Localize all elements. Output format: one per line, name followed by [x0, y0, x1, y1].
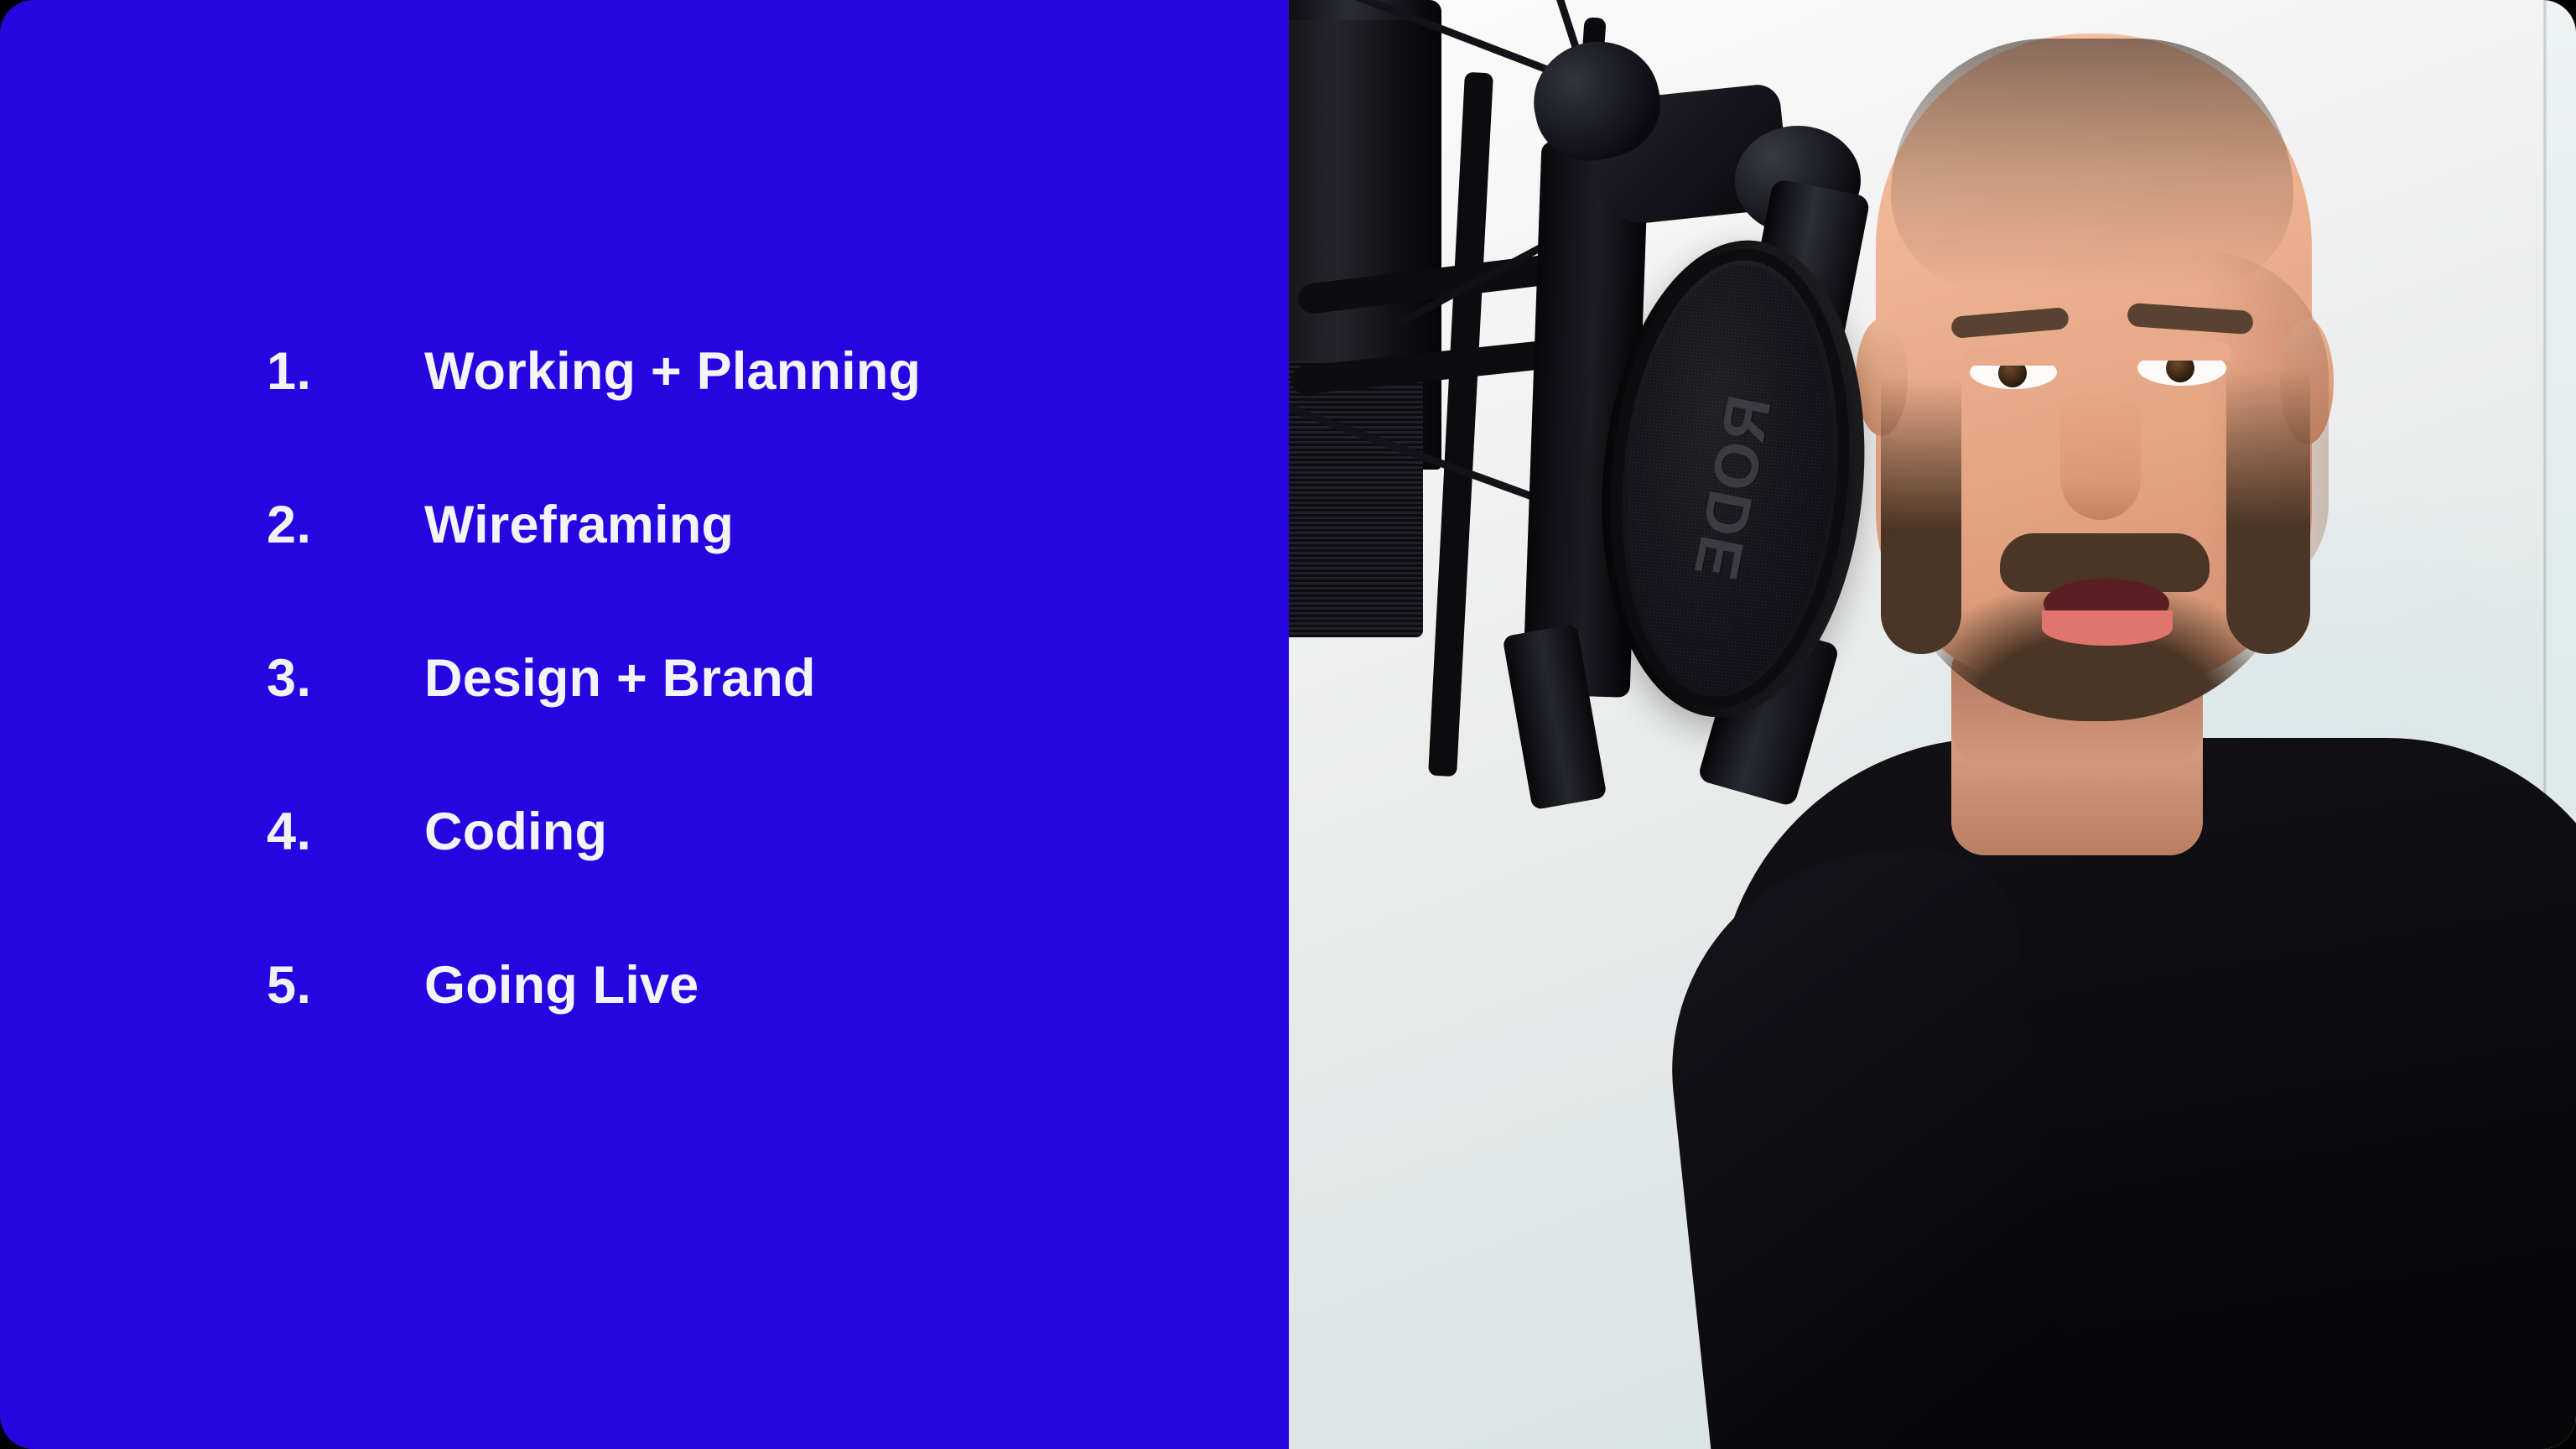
agenda-item-number: 5. [267, 959, 424, 1012]
agenda-item-number: 4. [267, 806, 424, 859]
scalp-shaved-hair [1891, 39, 2293, 290]
beard-left-side [1881, 377, 1961, 654]
microphone-assembly: RODE [1289, 0, 1752, 746]
agenda-item-number: 3. [267, 652, 424, 705]
beard-right-side [2226, 369, 2310, 654]
agenda-item-number: 2. [267, 499, 424, 552]
lower-lip [2042, 610, 2173, 646]
video-frame: 1. Working + Planning 2. Wireframing 3. … [0, 0, 2576, 1449]
eyelid-right [2132, 342, 2231, 361]
list-item: 3. Design + Brand [267, 652, 1231, 806]
microphone-grille [1289, 361, 1423, 637]
agenda-item-label: Coding [424, 806, 607, 859]
agenda-item-number: 1. [267, 345, 424, 398]
agenda-item-label: Going Live [424, 959, 699, 1012]
list-item: 2. Wireframing [267, 499, 1231, 652]
agenda-item-label: Wireframing [424, 499, 734, 552]
eyelid-left [1965, 347, 2062, 366]
nose [2060, 386, 2141, 520]
agenda-item-label: Working + Planning [424, 345, 921, 398]
agenda-list: 1. Working + Planning 2. Wireframing 3. … [267, 345, 1231, 1113]
agenda-slide: 1. Working + Planning 2. Wireframing 3. … [0, 0, 1289, 1449]
webcam-feed: RODE [1289, 0, 2576, 1449]
list-item: 4. Coding [267, 806, 1231, 959]
agenda-item-label: Design + Brand [424, 652, 816, 705]
shoulder-left [1650, 839, 2075, 1449]
list-item: 5. Going Live [267, 959, 1231, 1113]
list-item: 1. Working + Planning [267, 345, 1231, 499]
